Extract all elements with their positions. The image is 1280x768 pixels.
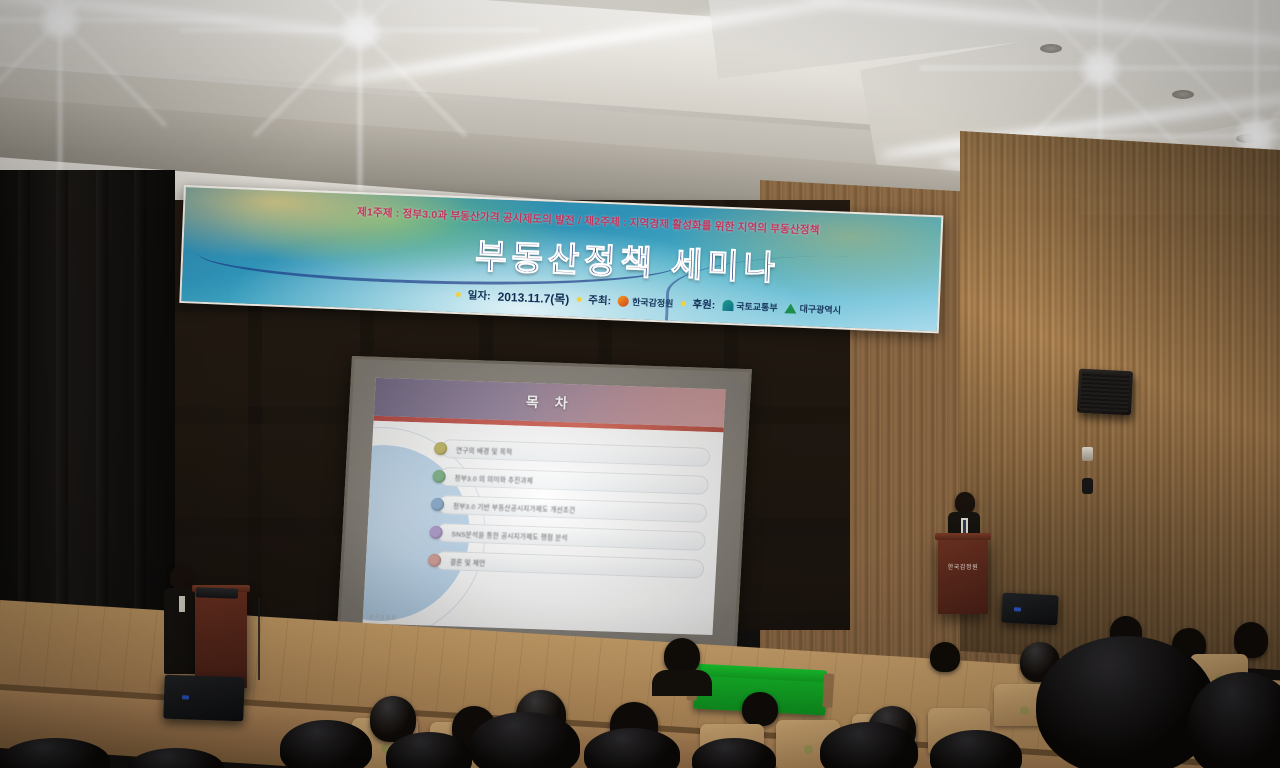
bullet-icon	[680, 301, 685, 306]
slide-title: 목 차	[525, 392, 574, 414]
daegu-city-logo-icon	[784, 303, 796, 313]
list-item: 연구의 배경 및 목적	[434, 439, 711, 467]
appraisal-board-logo-icon	[618, 296, 629, 307]
toc-list: 연구의 배경 및 목적 정부3.0 의 의미와 추진과제	[428, 439, 711, 579]
wall-speaker-icon	[1077, 369, 1133, 416]
toc-item-text: SNS분석을 통한 공시지가제도 쟁점 분석	[451, 528, 568, 542]
banner-date-value: 2013.11.7(목)	[497, 288, 569, 308]
presentation-slide: 목 차 연구의 배경 및 목적	[363, 378, 726, 635]
list-item: 정부3.0 의 의미와 추진과제	[432, 467, 709, 495]
audience-head	[742, 692, 778, 726]
list-item: 정부3.0 기반 부동산공시지가제도 개선조건	[431, 495, 708, 523]
ceiling-downlight-icon	[1040, 44, 1062, 53]
audience-shoulders	[652, 670, 712, 696]
bullet-icon	[456, 292, 461, 297]
toc-item-text: 결론 및 제언	[450, 556, 486, 567]
toc-item-text: 정부3.0 의 의미와 추진과제	[454, 472, 533, 485]
banner-host-label: 주최:	[588, 292, 611, 308]
toc-item-text: 연구의 배경 및 목적	[456, 444, 513, 456]
ceiling-downlight-icon	[1236, 134, 1258, 143]
banner-sponsor-1: 국토교통부	[736, 299, 778, 314]
banner-sponsor-label: 후원:	[692, 297, 715, 313]
host-logo: 한국감정원	[618, 295, 674, 310]
toc-pill: SNS분석을 통한 공시지가제도 쟁점 분석	[436, 523, 706, 551]
toc-pill: 정부3.0 기반 부동산공시지가제도 개선조건	[438, 495, 708, 523]
audience-head-foreground	[0, 738, 110, 768]
banner-host-value: 한국감정원	[632, 295, 674, 310]
banner-date-label: 일자:	[468, 287, 491, 303]
audience-head-foreground	[280, 720, 372, 768]
list-item: SNS분석을 통한 공시지가제도 쟁점 분석	[429, 523, 706, 551]
audience-head	[664, 638, 700, 674]
laptop-icon	[196, 587, 238, 598]
bullet-icon	[576, 297, 581, 302]
audience-area	[0, 598, 1280, 768]
emergency-light-icon	[1082, 447, 1093, 461]
toc-pill: 정부3.0 의 의미와 추진과제	[439, 467, 709, 495]
audience-head	[1234, 622, 1268, 658]
wall-sensor-icon	[1082, 478, 1093, 494]
molit-logo-icon	[722, 300, 733, 311]
sponsor-logo-1: 국토교통부	[722, 299, 778, 314]
banner-sponsor-2: 대구광역시	[799, 302, 841, 317]
auditorium-photo: 제1주제 : 정부3.0과 부동산가격 공시제도의 발전 / 제2주제 : 지역…	[0, 0, 1280, 768]
sponsor-logo-2: 대구광역시	[784, 301, 841, 316]
ceiling-downlight-icon	[1172, 90, 1194, 99]
audience-head-foreground	[584, 728, 680, 768]
toc-pill: 연구의 배경 및 목적	[441, 439, 711, 467]
toc-item-text: 정부3.0 기반 부동산공시지가제도 개선조건	[453, 500, 576, 514]
audience-head	[930, 642, 960, 672]
audience-head-foreground	[128, 748, 224, 768]
podium-right-label: 한국감정원	[938, 562, 988, 571]
